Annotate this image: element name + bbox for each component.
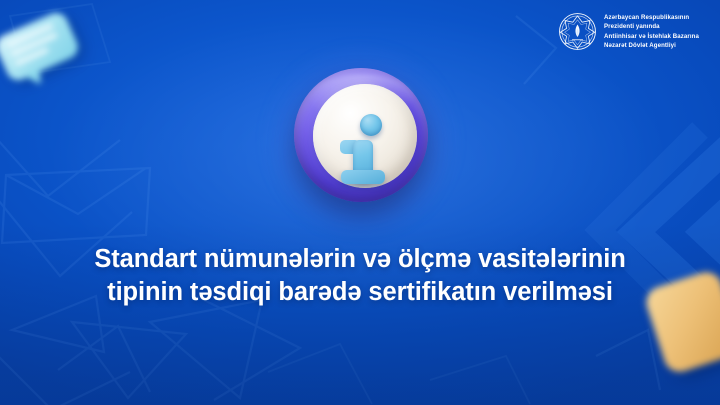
azerbaijan-state-emblem-flame-star-icon (558, 12, 597, 51)
speech-bubble-3d-prop (0, 9, 87, 97)
page-title-line-1: Standart nümunələrin və ölçmə vasitələri… (32, 243, 688, 276)
page-title: Standart nümunələrin və ölçmə vasitələri… (0, 243, 720, 309)
agency-logo[interactable]: Azərbaycan Respublikasının Prezidenti ya… (558, 12, 699, 51)
info-icon-face (313, 84, 417, 188)
agency-logo-line-2: Prezidenti yanında (604, 22, 699, 31)
agency-logo-line-4: Nəzarət Dövlət Agentliyi (604, 41, 699, 50)
agency-logo-line-3: Antiinhisar və İstehlak Bazarına (604, 32, 699, 41)
page-title-line-2: tipinin təsdiqi barədə sertifikatın veri… (32, 276, 688, 309)
info-icon-glyph-serif-bottom (341, 170, 385, 184)
info-icon-ring (294, 68, 428, 202)
agency-logo-text: Azərbaycan Respublikasının Prezidenti ya… (604, 13, 699, 50)
promo-banner: Azərbaycan Respublikasının Prezidenti ya… (0, 0, 720, 405)
info-3d-icon (290, 66, 432, 208)
agency-logo-line-1: Azərbaycan Respublikasının (604, 13, 699, 22)
info-icon-glyph-dot (360, 114, 382, 136)
